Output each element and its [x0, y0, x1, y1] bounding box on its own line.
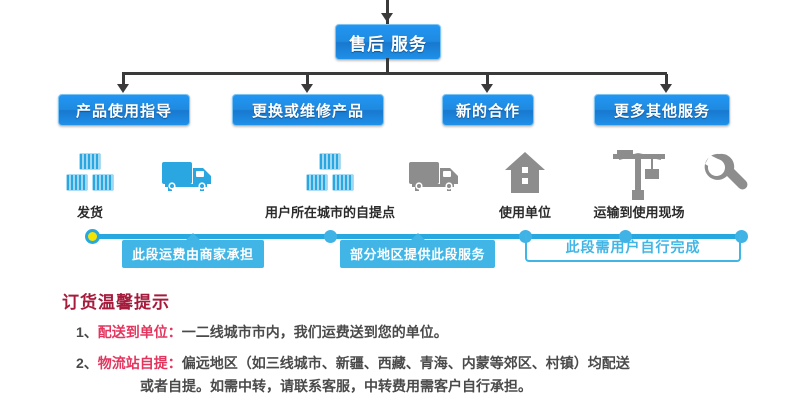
wrench-icon	[690, 148, 760, 200]
journey-step-transit-1	[148, 148, 228, 202]
timeline-callout-merchant-pays: 此段运费由商家承担	[122, 240, 264, 268]
note-item-1: 1、配送到单位：一二线城市市内，我们运费送到您的单位。	[62, 322, 762, 344]
journey-step-caption: 用户所在城市的自提点	[245, 202, 415, 221]
after-sales-service-infographic: 售后 服务 产品使用指导 更换或维修产品 新的合作 更多其他服务	[0, 0, 790, 412]
note-keyword: 物流站自提：	[98, 355, 182, 371]
arrow-head-2-icon	[481, 84, 493, 93]
journey-step-onsite-delivery: 运输到使用现场	[575, 148, 703, 221]
timeline-callout-customer-handles: 此段需用户自行完成	[525, 234, 741, 262]
journey-step-installation	[690, 148, 760, 202]
note-keyword: 配送到单位：	[98, 324, 182, 340]
journey-step-pickup-point: 用户所在城市的自提点	[245, 148, 415, 221]
house-icon	[470, 148, 580, 200]
journey-step-caption: 发货	[45, 202, 135, 221]
journey-step-using-unit: 使用单位	[470, 148, 580, 221]
notes-title: 订货温馨提示	[62, 288, 762, 313]
truck-icon	[395, 148, 475, 200]
journey-step-caption: 运输到使用现场	[575, 202, 703, 221]
arrow-head-1-icon	[301, 84, 313, 93]
containers-icon	[245, 148, 415, 200]
journey-step-caption: 使用单位	[470, 202, 580, 221]
journey-step-transit-2	[395, 148, 475, 202]
timeline-callout-partial-regions: 部分地区提供此段服务	[340, 240, 495, 268]
note-text: 偏远地区（如三线城市、新疆、西藏、青海、内蒙等郊区、村镇）均配送	[182, 355, 630, 371]
journey-step-shipping: 发货	[45, 148, 135, 221]
arrow-head-root-icon	[381, 13, 393, 22]
leaf-node-more-other-services[interactable]: 更多其他服务	[594, 94, 730, 126]
timeline-dot-1	[324, 230, 337, 243]
crane-icon	[575, 148, 703, 200]
callout-nub-icon	[411, 233, 425, 240]
timeline-dot-start	[88, 232, 97, 241]
note-item-2-continuation: 或者自提。如需中转，请联系客服，中转费用需客户自行承担。	[62, 376, 762, 396]
connector-horizontal-bar	[122, 72, 667, 75]
note-item-2: 2、物流站自提：偏远地区（如三线城市、新疆、西藏、青海、内蒙等郊区、村镇）均配送	[62, 353, 762, 375]
note-text: 一二线城市市内，我们运费送到您的单位。	[182, 324, 448, 340]
containers-icon	[45, 148, 135, 200]
callout-label: 此段需用户自行完成	[566, 237, 701, 257]
root-node-after-sales-service[interactable]: 售后 服务	[335, 24, 441, 60]
leaf-node-new-cooperation[interactable]: 新的合作	[442, 94, 534, 126]
leaf-node-replace-or-repair[interactable]: 更换或维修产品	[232, 94, 384, 126]
truck-icon	[148, 148, 228, 200]
leaf-node-product-usage-guide[interactable]: 产品使用指导	[58, 94, 190, 126]
arrow-head-0-icon	[117, 84, 129, 93]
callout-nub-icon	[186, 233, 200, 240]
arrow-head-3-icon	[660, 84, 672, 93]
note-number: 1、	[76, 324, 98, 340]
callout-label: 此段运费由商家承担	[132, 247, 254, 262]
order-notes-section: 订货温馨提示 1、配送到单位：一二线城市市内，我们运费送到您的单位。 2、物流站…	[62, 288, 762, 396]
callout-label: 部分地区提供此段服务	[350, 247, 485, 262]
note-number: 2、	[76, 355, 98, 371]
